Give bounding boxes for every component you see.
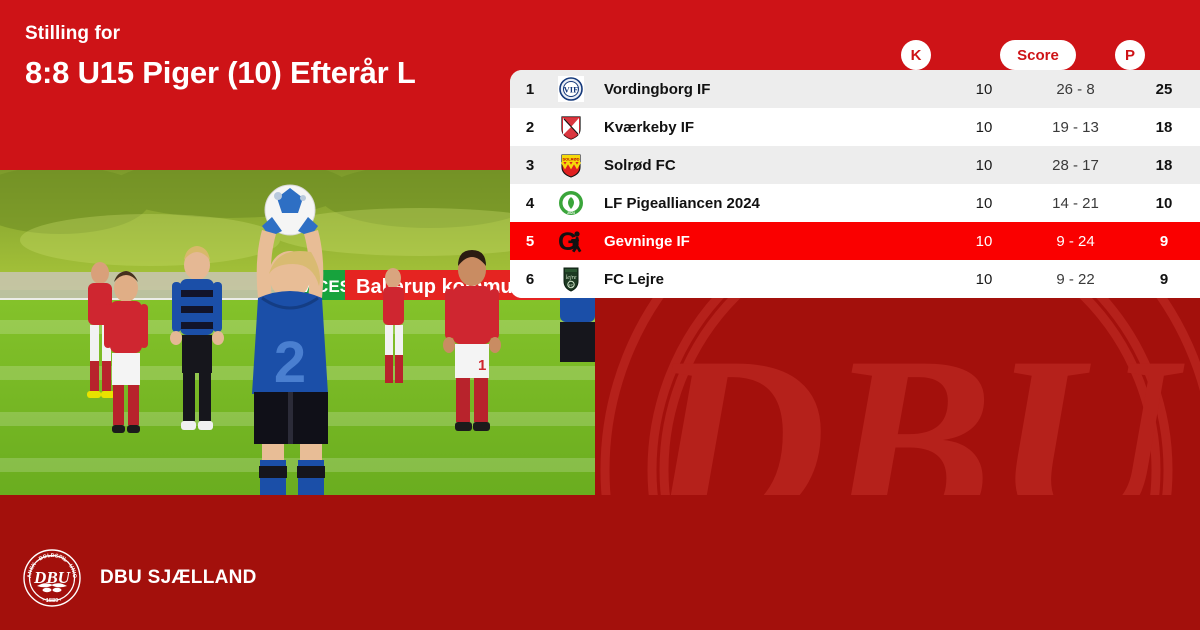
row-score: 9 - 24 xyxy=(1023,233,1128,250)
table-row[interactable]: 1 VIF Vordingborg IF 10 26 - 8 25 xyxy=(510,70,1200,108)
gevninge-if-crest-icon: G xyxy=(550,228,592,254)
row-rank: 4 xyxy=(510,195,550,212)
svg-text:DBU: DBU xyxy=(33,568,71,587)
page-title: 8:8 U15 Piger (10) Efterår L xyxy=(25,52,495,94)
match-photo: VICES Ballerup kommune xyxy=(0,170,595,495)
table-row[interactable]: 3 SOLRØD Solrød FC 10 28 - 17 18 xyxy=(510,146,1200,184)
row-team: FC Lejre xyxy=(592,271,945,288)
lf-pigealliancen-crest-icon: 2024 xyxy=(550,190,592,216)
footer-org-name: DBU SJÆLLAND xyxy=(100,567,257,589)
row-team: Vordingborg IF xyxy=(592,81,945,98)
row-team: Solrød FC xyxy=(592,157,945,174)
table-row[interactable]: 6 lejre FC FC Lejre 10 9 - 22 9 xyxy=(510,260,1200,298)
row-score: 19 - 13 xyxy=(1023,119,1128,136)
row-p: 9 xyxy=(1128,271,1200,288)
column-header-p: P xyxy=(1115,40,1145,70)
row-p: 18 xyxy=(1128,119,1200,136)
vordingborg-if-crest-icon: VIF xyxy=(550,76,592,102)
row-team: Kværkeby IF xyxy=(592,119,945,136)
header-kicker: Stilling for xyxy=(25,23,120,45)
row-k: 10 xyxy=(945,81,1023,98)
row-k: 10 xyxy=(945,233,1023,250)
row-score: 9 - 22 xyxy=(1023,271,1128,288)
row-score: 14 - 21 xyxy=(1023,195,1128,212)
table-row[interactable]: 4 2024 LF Pigealliancen 2024 10 14 - 21 … xyxy=(510,184,1200,222)
dbu-crest-logo-icon: DANSK · BOLDSPIL · UNION · 1889 · DBU xyxy=(22,548,82,608)
row-k: 10 xyxy=(945,119,1023,136)
fc-lejre-crest-icon: lejre FC xyxy=(550,266,592,292)
svg-text:2024: 2024 xyxy=(567,211,575,215)
svg-text:· 1889 ·: · 1889 · xyxy=(42,598,61,604)
solrod-fc-crest-icon: SOLRØD xyxy=(550,152,592,178)
row-p: 9 xyxy=(1128,233,1200,250)
footer-bar xyxy=(0,495,1200,630)
row-score: 28 - 17 xyxy=(1023,157,1128,174)
row-rank: 6 xyxy=(510,271,550,288)
svg-text:SOLRØD: SOLRØD xyxy=(562,157,579,162)
column-header-k: K xyxy=(901,40,931,70)
row-k: 10 xyxy=(945,271,1023,288)
column-header-score: Score xyxy=(1000,40,1076,70)
row-rank: 5 xyxy=(510,233,550,250)
row-rank: 2 xyxy=(510,119,550,136)
svg-text:FC: FC xyxy=(569,284,574,288)
row-team: Gevninge IF xyxy=(592,233,945,250)
row-team: LF Pigealliancen 2024 xyxy=(592,195,945,212)
svg-text:lejre: lejre xyxy=(566,275,577,281)
table-row-highlighted[interactable]: 5 G Gevninge IF 10 9 - 24 9 xyxy=(510,222,1200,260)
row-p: 10 xyxy=(1128,195,1200,212)
row-rank: 1 xyxy=(510,81,550,98)
table-row[interactable]: 2 Kværkeby IF 10 19 - 13 18 xyxy=(510,108,1200,146)
row-k: 10 xyxy=(945,195,1023,212)
svg-text:1: 1 xyxy=(478,357,486,374)
kvaerkeby-if-crest-icon xyxy=(550,114,592,140)
row-score: 26 - 8 xyxy=(1023,81,1128,98)
row-p: 18 xyxy=(1128,157,1200,174)
svg-text:VIF: VIF xyxy=(564,85,579,95)
table-column-headers: K Score P xyxy=(510,40,1200,72)
standings-table: 1 VIF Vordingborg IF 10 26 - 8 25 2 Kvær… xyxy=(510,70,1200,298)
svg-text:2: 2 xyxy=(274,330,306,395)
row-rank: 3 xyxy=(510,157,550,174)
row-p: 25 xyxy=(1128,81,1200,98)
row-k: 10 xyxy=(945,157,1023,174)
